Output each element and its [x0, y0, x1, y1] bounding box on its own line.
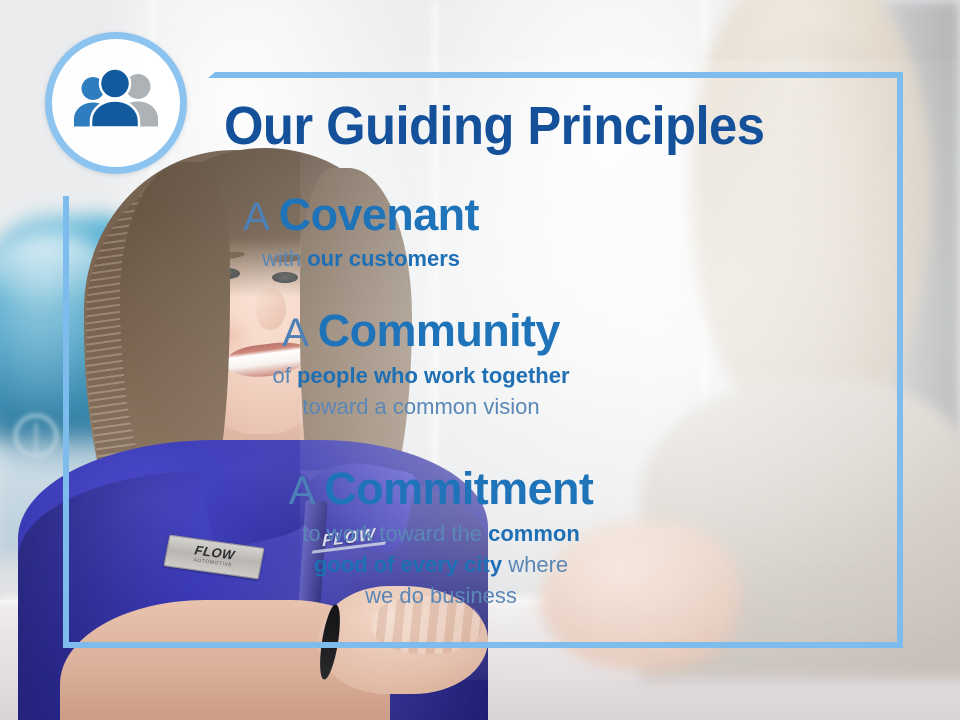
subtext-part-bold: our customers: [307, 246, 460, 271]
principle-covenant-subtext: with our customers: [0, 244, 722, 273]
subtext-line: of people who work together: [0, 360, 842, 391]
principle-covenant: A Covenant with our customers: [0, 192, 722, 273]
principle-keyword: Community: [318, 305, 560, 356]
subtext-part: to work toward the: [302, 521, 488, 546]
subtext-part: of: [272, 363, 296, 388]
subtext-line: we do business: [0, 580, 882, 611]
subtext-line: toward a common vision: [0, 391, 842, 422]
subtext-part: with: [262, 246, 307, 271]
subtext-line: to work toward the common: [0, 518, 882, 549]
principle-community: A Community of people who work together …: [0, 308, 842, 422]
principle-commitment-title: A Commitment: [0, 466, 882, 512]
people-icon-badge: [45, 32, 187, 174]
principle-commitment: A Commitment to work toward the common g…: [0, 466, 882, 611]
principle-community-title: A Community: [0, 308, 842, 354]
principle-commitment-subtext: to work toward the common good of every …: [0, 518, 882, 611]
banner-image: FLOW FLOW AUTOMOTIVE: [0, 0, 960, 720]
page-title: Our Guiding Principles: [224, 96, 844, 156]
principle-article: A: [282, 311, 318, 355]
frame-border-top: [216, 72, 903, 78]
subtext-part-bold: good of every city: [314, 552, 502, 577]
subtext-part-bold: common: [488, 521, 580, 546]
subtext-part-bold: people who work together: [297, 363, 570, 388]
people-group-icon: [68, 70, 164, 137]
principle-article: A: [289, 469, 325, 513]
subtext-line: good of every city where: [0, 549, 882, 580]
frame-border-right: [897, 72, 903, 648]
frame-border-bottom: [63, 642, 903, 648]
principle-keyword: Commitment: [324, 463, 593, 514]
subtext-part: where: [502, 552, 568, 577]
principle-community-subtext: of people who work together toward a com…: [0, 360, 842, 422]
principle-covenant-title: A Covenant: [0, 192, 722, 238]
principle-article: A: [243, 195, 279, 239]
principle-keyword: Covenant: [279, 189, 479, 240]
